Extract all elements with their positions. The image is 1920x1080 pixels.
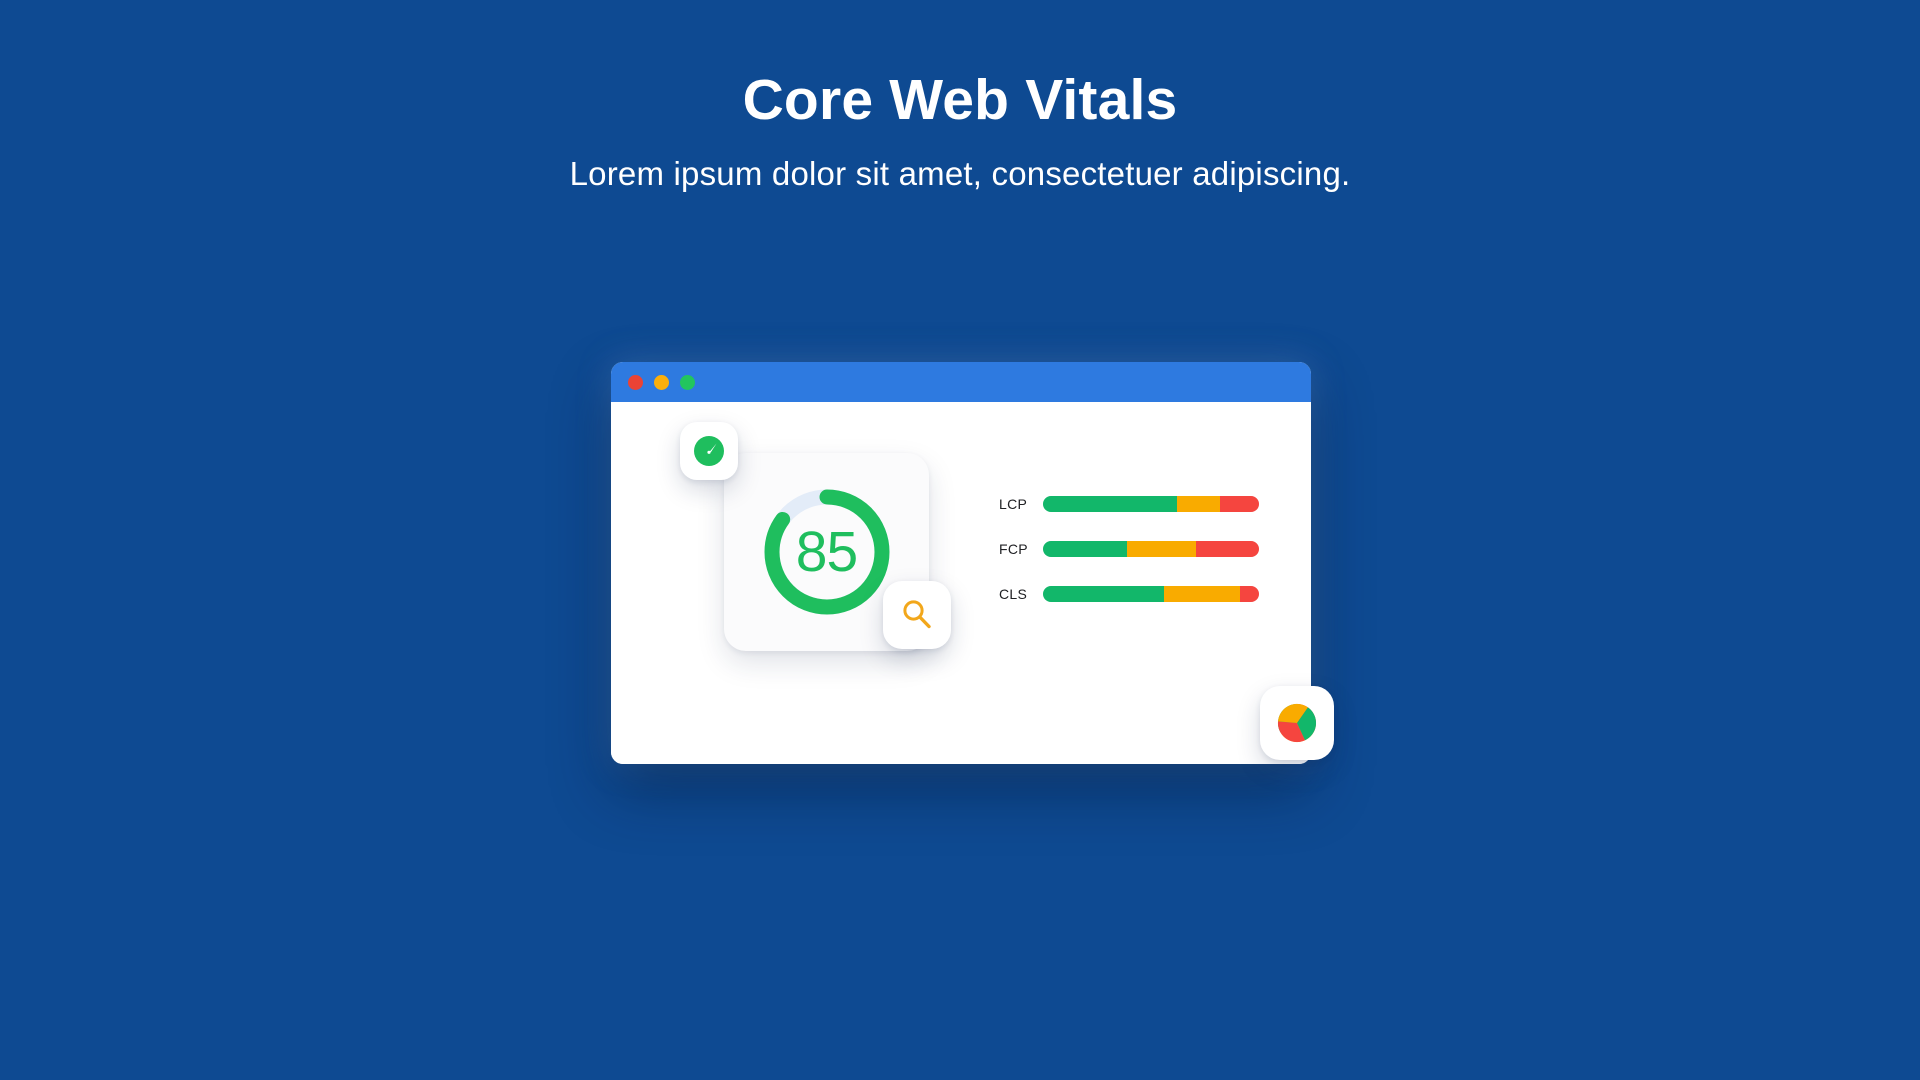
window-minimize-dot-icon[interactable] [654, 375, 669, 390]
segment-poor [1240, 586, 1259, 602]
score-value: 85 [758, 483, 896, 621]
speedometer-badge[interactable] [680, 422, 738, 480]
search-badge[interactable] [883, 581, 951, 649]
segment-poor [1220, 496, 1259, 512]
window-close-dot-icon[interactable] [628, 375, 643, 390]
magnifier-icon [898, 596, 936, 634]
score-gauge: 85 [758, 483, 896, 621]
metric-bar-lcp [1043, 496, 1259, 512]
segment-good [1043, 541, 1127, 557]
metric-row: FCP [999, 538, 1259, 560]
page-header: Core Web Vitals Lorem ipsum dolor sit am… [0, 0, 1920, 193]
window-maximize-dot-icon[interactable] [680, 375, 695, 390]
pie-chart-icon [1274, 700, 1320, 746]
segment-average [1164, 586, 1240, 602]
segment-average [1127, 541, 1196, 557]
pie-chart-badge[interactable] [1260, 686, 1334, 760]
speedometer-icon [691, 433, 727, 469]
metric-label-lcp: LCP [999, 496, 1043, 512]
segment-poor [1196, 541, 1259, 557]
segment-average [1177, 496, 1220, 512]
core-web-vitals-bars: LCP FCP CLS [999, 493, 1259, 605]
page-subtitle: Lorem ipsum dolor sit amet, consectetuer… [0, 154, 1920, 194]
metric-label-fcp: FCP [999, 541, 1043, 557]
metric-row: CLS [999, 583, 1259, 605]
browser-window-mockup: 85 LCP [611, 362, 1311, 764]
browser-content-area: 85 LCP [611, 402, 1311, 764]
metric-row: LCP [999, 493, 1259, 515]
browser-titlebar [611, 362, 1311, 402]
metric-bar-fcp [1043, 541, 1259, 557]
segment-good [1043, 496, 1177, 512]
metric-bar-cls [1043, 586, 1259, 602]
metric-label-cls: CLS [999, 586, 1043, 602]
segment-good [1043, 586, 1164, 602]
page-title: Core Web Vitals [0, 68, 1920, 134]
